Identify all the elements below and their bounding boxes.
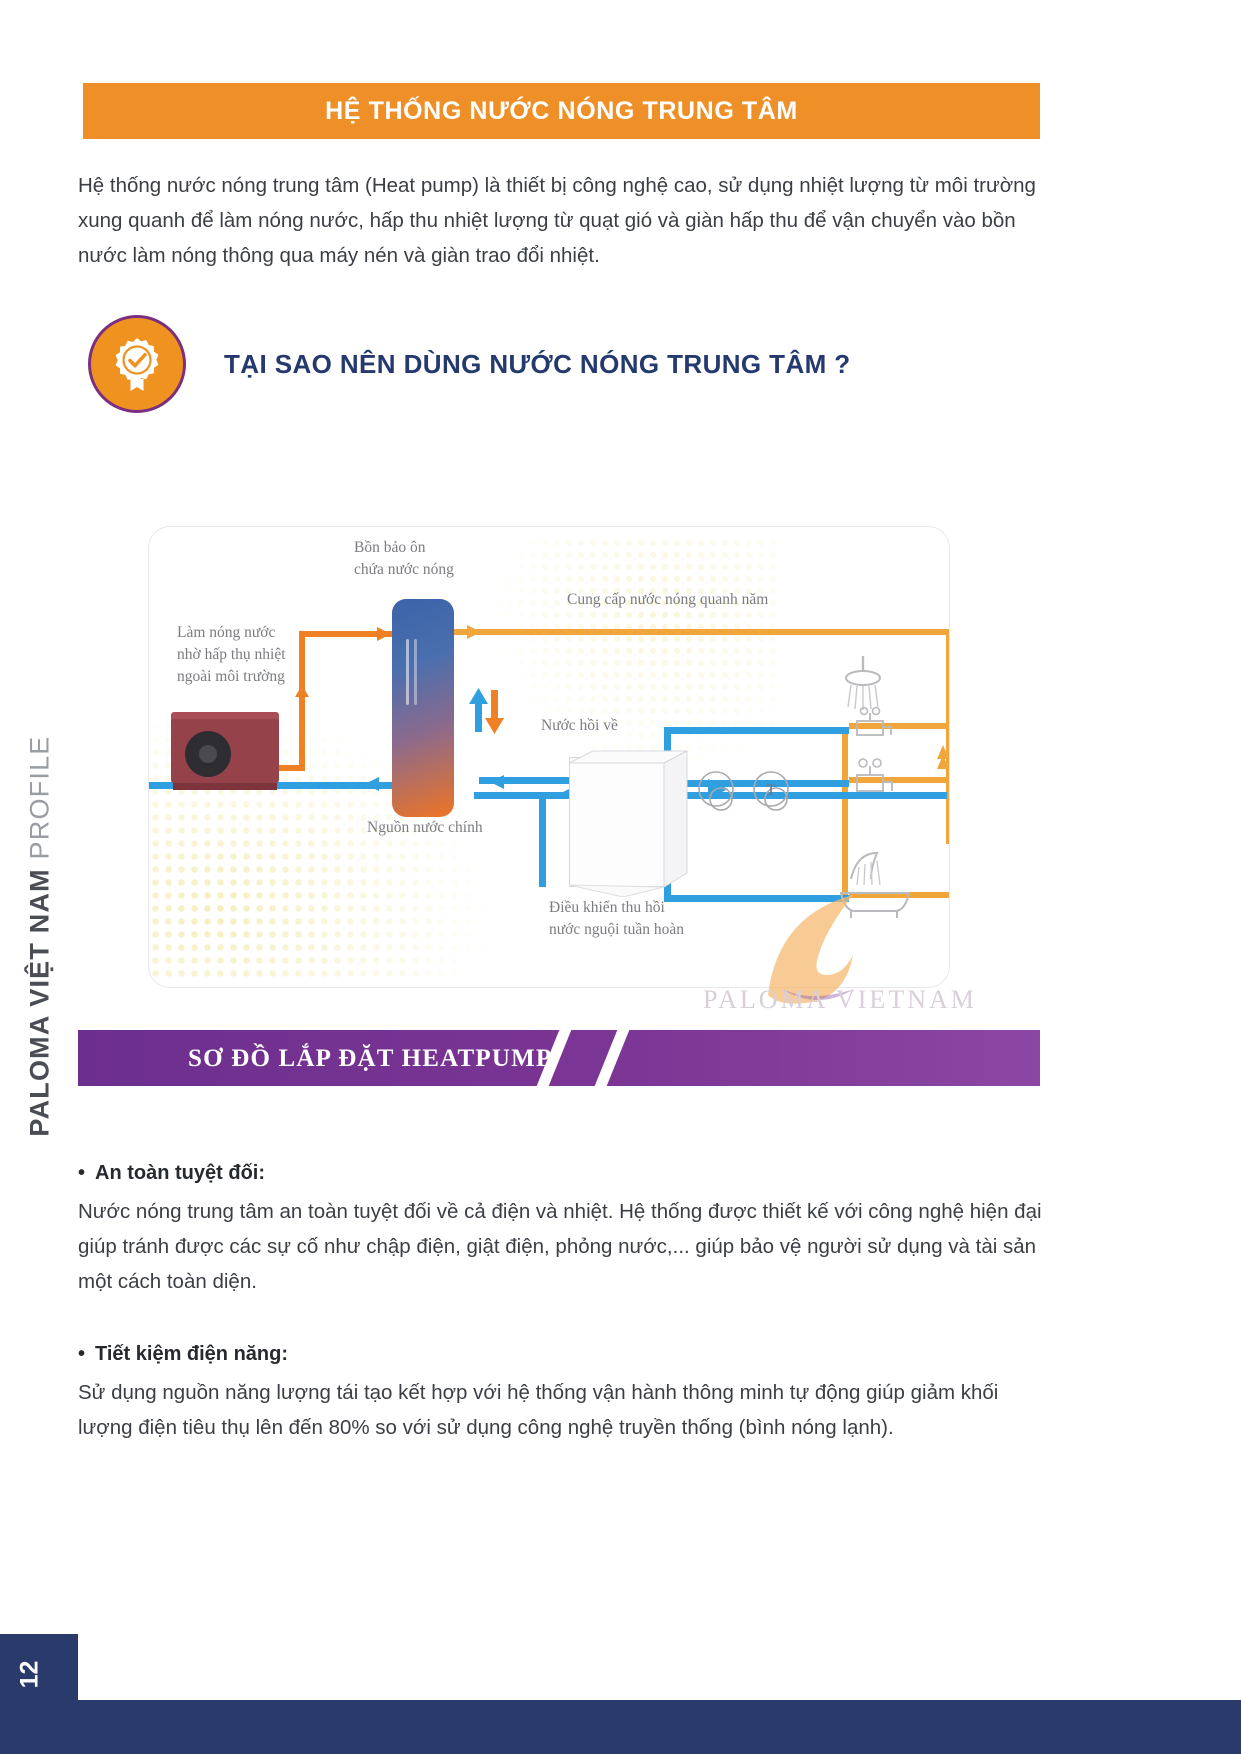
controller-box-3d-edges (563, 747, 693, 897)
side-rail-label-light: PROFILE (25, 736, 55, 869)
bullet-marker-icon: • (78, 1343, 85, 1365)
benefit-body: Nước nóng trung tâm an toàn tuyệt đối về… (78, 1194, 1043, 1299)
intro-paragraph: Hệ thống nước nóng trung tâm (Heat pump)… (78, 168, 1043, 273)
hot-water-storage-tank (392, 599, 454, 817)
pipe-cold-branch-1 (664, 727, 849, 734)
side-rail-label: PALOMA VIỆT NAM PROFILE (25, 736, 56, 1616)
diagram-watermark: PALOMA VIETNAM (703, 985, 977, 1015)
page-title: HỆ THỐNG NƯỚC NÓNG TRUNG TÂM (325, 97, 798, 126)
page-title-banner: HỆ THỐNG NƯỚC NÓNG TRUNG TÂM (83, 83, 1040, 139)
diagram-banner-title: SƠ ĐỒ LẮP ĐẶT HEATPUMP (188, 1045, 552, 1073)
benefit-title: •An toàn tuyệt đối: (78, 1162, 1043, 1185)
benefits-section: •An toàn tuyệt đối: Nước nóng trung tâm … (78, 1162, 1043, 1489)
benefit-item: •An toàn tuyệt đối: Nước nóng trung tâm … (78, 1162, 1043, 1299)
diagram-label-tank: Bồn bảo ôn chứa nước nóng (354, 537, 454, 581)
heatpump-base (173, 783, 277, 790)
pipe-cold-mains-link (474, 792, 546, 799)
diagram-label-heatpump: Làm nóng nước nhờ hấp thụ nhiệt ngoài mô… (177, 622, 286, 688)
benefit-item: •Tiết kiệm điện năng: Sử dụng nguồn năng… (78, 1343, 1043, 1445)
benefit-body: Sử dụng nguồn năng lượng tái tạo kết hợp… (78, 1375, 1043, 1445)
bullet-marker-icon: • (78, 1162, 85, 1184)
heatpump-diagram: Bồn bảo ôn chứa nước nóng Làm nóng nước … (78, 470, 1040, 1105)
heatpump-fan-hub (199, 745, 217, 763)
side-rail-label-bold: PALOMA VIỆT NAM (25, 868, 55, 1137)
benefit-title-text: Tiết kiệm điện năng: (95, 1343, 288, 1365)
diagram-label-controller: Điều khiển thu hồi nước nguội tuần hoàn (549, 897, 684, 941)
pipe-cold-mains-riser (539, 799, 546, 887)
section-heading-text: TẠI SAO NÊN DÙNG NƯỚC NÓNG TRUNG TÂM ? (224, 349, 851, 380)
page-side-rail: PALOMA VIỆT NAM PROFILE 12 (0, 0, 78, 1754)
award-check-badge-icon (88, 315, 186, 413)
diagram-flow-arrows-icon (469, 682, 509, 740)
faucet-icon-1 (849, 703, 897, 743)
tank-highlight-2 (414, 639, 417, 705)
pipe-hot-supply-right (946, 629, 950, 844)
tank-highlight-1 (406, 639, 409, 705)
faucet-icon-2 (849, 755, 897, 799)
pipe-hot-riser (299, 631, 305, 771)
diagram-label-return: Nước hồi về (541, 715, 618, 737)
diagram-label-mains: Nguồn nước chính (367, 817, 483, 839)
benefit-title: •Tiết kiệm điện năng: (78, 1343, 1043, 1366)
diagram-label-supply: Cung cấp nước nóng quanh năm (567, 589, 768, 611)
section-heading: TẠI SAO NÊN DÙNG NƯỚC NÓNG TRUNG TÂM ? (88, 312, 988, 416)
pipe-hot-to-tank (299, 631, 394, 637)
thermostat-icon: T (747, 765, 807, 815)
page-bottom-bar (78, 1700, 1241, 1754)
benefit-title-text: An toàn tuyệt đối: (95, 1162, 265, 1184)
svg-text:T: T (766, 782, 776, 799)
pipe-hot-supply-top (454, 629, 950, 635)
page-number: 12 (16, 1645, 45, 1705)
